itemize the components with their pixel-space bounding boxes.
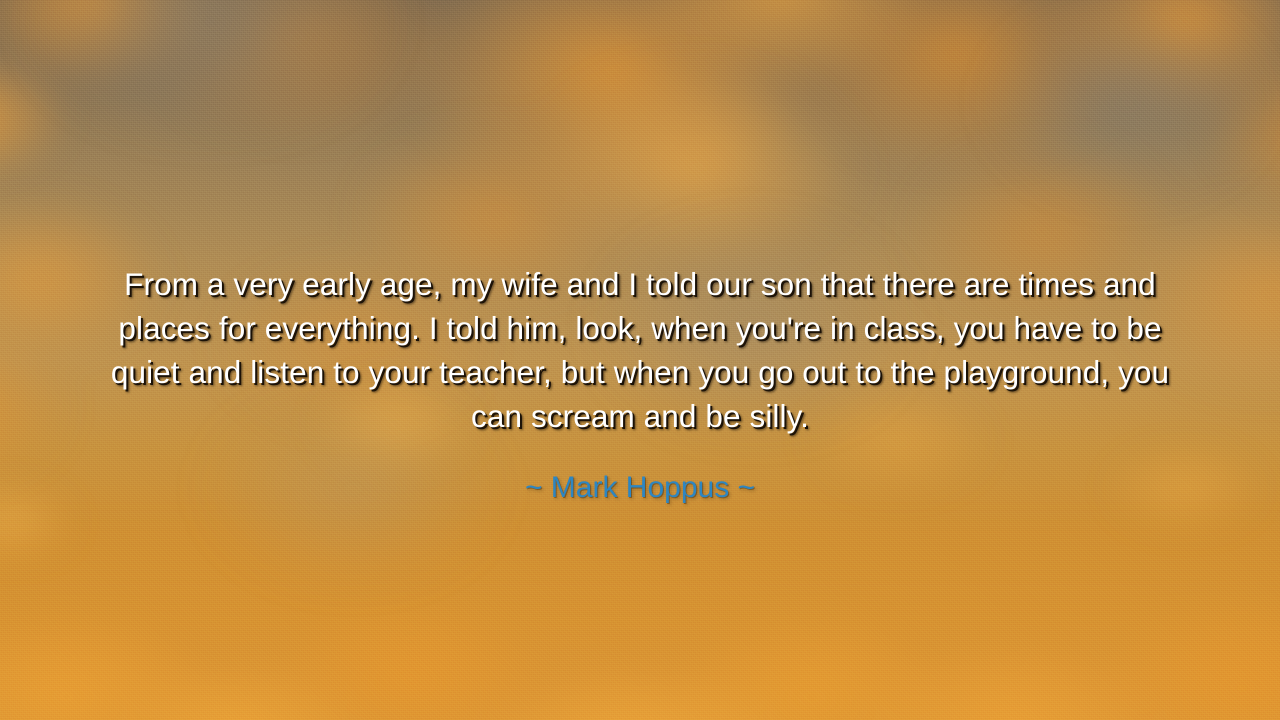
quote-text: From a very early age, my wife and I tol… <box>86 262 1194 438</box>
quote-attribution: ~ Mark Hoppus ~ <box>0 468 1280 508</box>
quote-image-canvas: From a very early age, my wife and I tol… <box>0 0 1280 720</box>
quote-block: From a very early age, my wife and I tol… <box>0 262 1280 438</box>
